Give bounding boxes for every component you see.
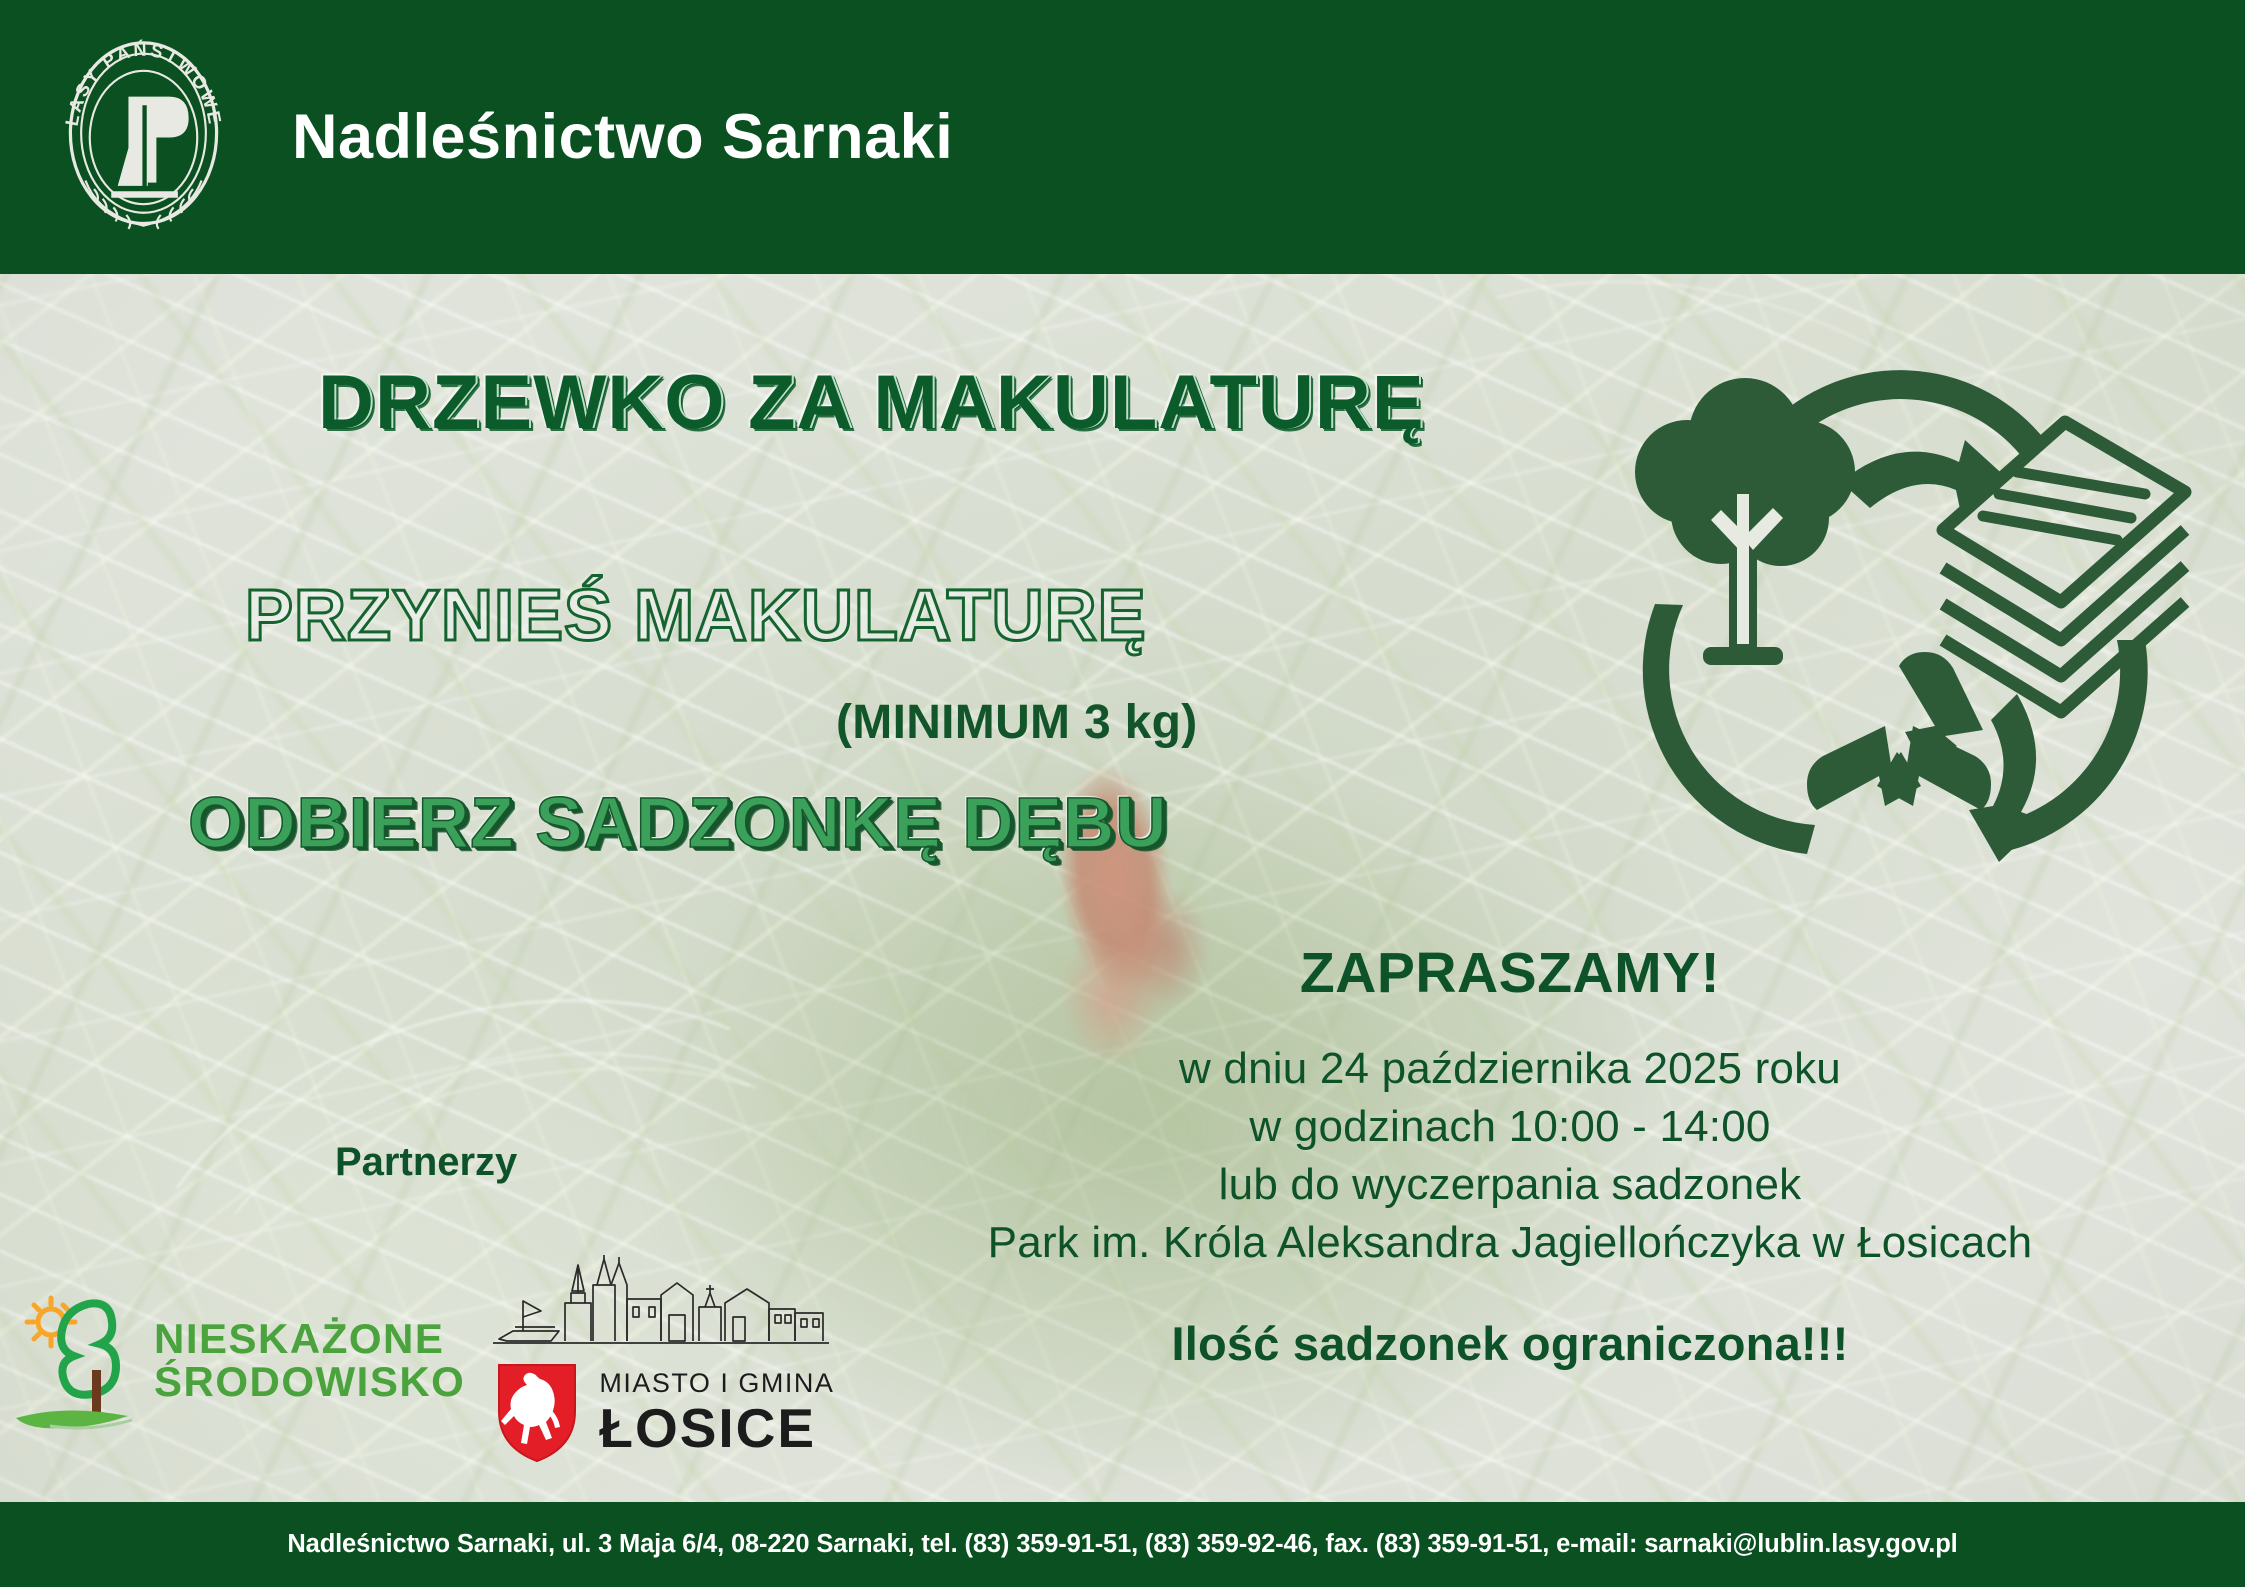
limited-notice: Ilość sadzonek ograniczona!!! [860,1316,2160,1371]
lasy-panstwowe-logo: LASY PAŃSTWOWE [0,30,286,245]
event-date: w dniu 24 października 2025 roku [860,1040,2160,1098]
headline-collect: ODBIERZ SADZONKĘ DĘBU [188,783,1168,864]
nieskazone-wordmark: NIESKAŻONE ŚRODOWISKO [154,1318,465,1404]
nieskazone-line-2: ŚRODOWISKO [154,1361,465,1404]
event-hours: w godzinach 10:00 - 14:00 [860,1098,2160,1156]
page-title: Nadleśnictwo Sarnaki [292,106,953,169]
losice-wordmark-row: MIASTO I GMINA ŁOSICE [491,1359,834,1467]
poster-canvas: LASY PAŃSTWOWE Nadleśnic [0,0,2245,1587]
tree-sun-icon [10,1286,140,1436]
headline-minimum: (MINIMUM 3 kg) [836,695,1198,750]
header-bar: LASY PAŃSTWOWE Nadleśnic [0,0,2245,274]
invite-heading: ZAPRASZAMY! [860,940,2160,1006]
losice-coat-of-arms-icon [491,1359,583,1467]
event-details: ZAPRASZAMY! w dniu 24 października 2025 … [860,940,2160,1371]
paper-recycling-cycle-icon [1625,322,2195,877]
losice-text: MIASTO I GMINA ŁOSICE [599,1370,834,1456]
footer-bar: Nadleśnictwo Sarnaki, ul. 3 Maja 6/4, 08… [0,1502,2245,1587]
headline-bring: PRZYNIEŚ MAKULATURĘ [245,575,1147,657]
nieskazone-line-1: NIESKAŻONE [154,1318,465,1361]
losice-line-1: MIASTO I GMINA [599,1370,834,1397]
event-until: lub do wyczerpania sadzonek [860,1156,2160,1214]
partners-label: Partnerzy [335,1140,517,1185]
event-location: Park im. Króla Aleksandra Jagiellończyka… [860,1214,2160,1272]
partner-logo-list: NIESKAŻONE ŚRODOWISKO [10,1255,834,1467]
headline-main: DRZEWKO ZA MAKULATURĘ [318,359,1425,446]
partner-logo-nieskazone-srodowisko: NIESKAŻONE ŚRODOWISKO [10,1286,465,1436]
partner-logo-miasto-i-gmina-losice: MIASTO I GMINA ŁOSICE [491,1255,834,1467]
losice-line-2: ŁOSICE [599,1401,834,1456]
footer-contact-text: Nadleśnictwo Sarnaki, ul. 3 Maja 6/4, 08… [287,1530,1957,1559]
losice-skyline-icon [493,1255,833,1355]
